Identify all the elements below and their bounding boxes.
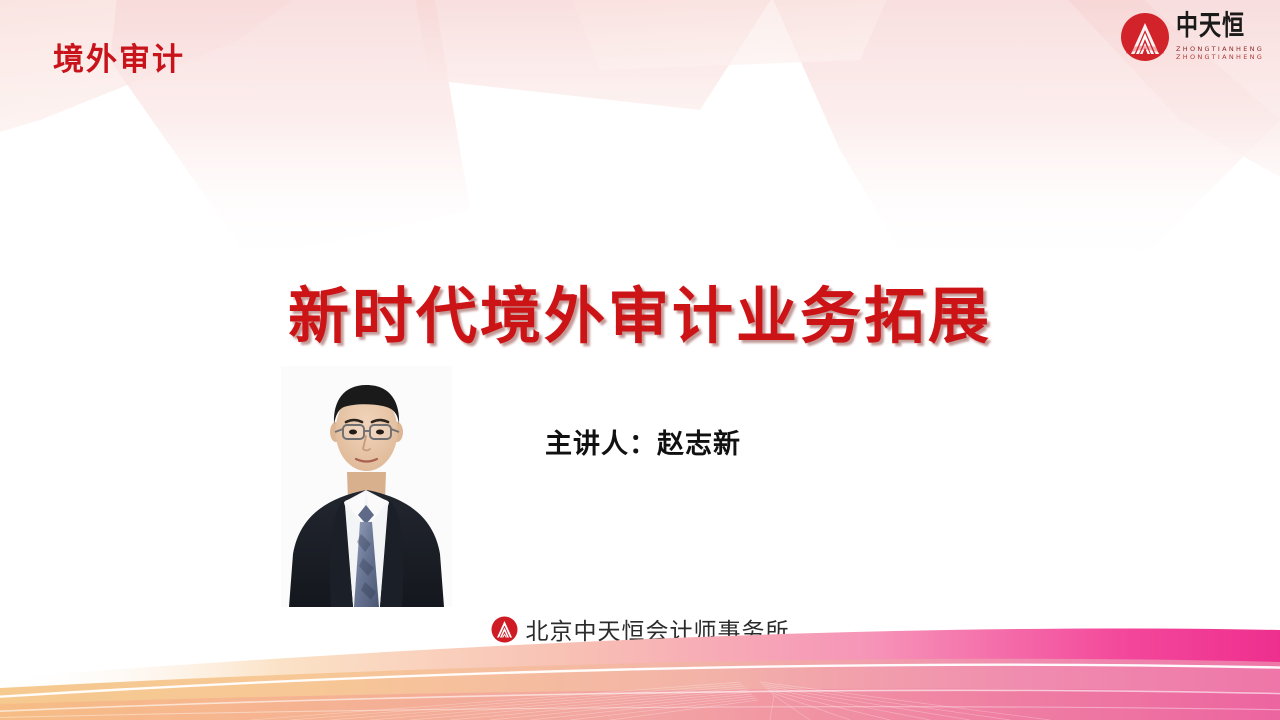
- background-decoration-top: [0, 0, 1280, 260]
- mountain-circle-icon: [491, 616, 518, 643]
- company-logo: 中天恒 ZHONGTIANHENG ZHONGTIANHENG: [1118, 6, 1266, 70]
- speaker-portrait-photo: [281, 366, 452, 607]
- background-fade-overlay: [0, 0, 1280, 260]
- organization-footer: 北京中天恒会计师事务所: [0, 612, 1280, 646]
- logo-wordmark: 中天恒 ZHONGTIANHENG ZHONGTIANHENG: [1176, 16, 1264, 60]
- presentation-slide: 境外审计 中天恒 ZHONGTIANHENG ZHONGTIANHENG 新时代…: [0, 0, 1280, 720]
- speaker-name: 主讲人：赵志新: [545, 422, 741, 461]
- organization-name: 北京中天恒会计师事务所: [526, 612, 790, 646]
- logo-chinese-name: 中天恒: [1176, 13, 1264, 41]
- slide-header-label: 境外审计: [53, 42, 185, 79]
- logo-pinyin-line-2: ZHONGTIANHENG: [1176, 54, 1264, 61]
- mountain-circle-icon: [1118, 10, 1174, 66]
- page-title: 新时代境外审计业务拓展: [0, 283, 1280, 351]
- logo-pinyin-line-1: ZHONGTIANHENG: [1176, 46, 1264, 53]
